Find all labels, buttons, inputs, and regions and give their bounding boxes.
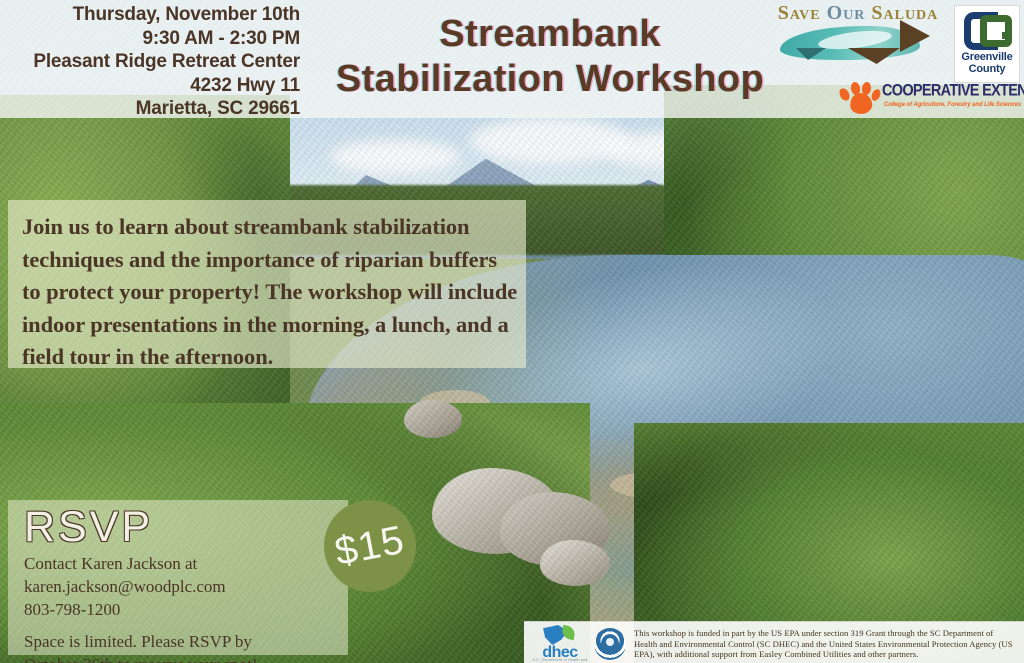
cooperative-extension-subtitle: College of Agriculture, Forestry and Lif… <box>884 102 1024 108</box>
header-band: Thursday, November 10th 9:30 AM - 2:30 P… <box>0 0 1024 118</box>
rsvp-contact-line: Contact Karen Jackson at <box>24 552 334 575</box>
price-amount: $15 <box>331 517 408 574</box>
cooperative-extension-title: COOPERATIVE EXTENSION <box>882 82 1024 100</box>
event-city-state-zip: Marietta, SC 29661 <box>0 97 300 121</box>
greenville-county-wordmark: Greenville County <box>955 51 1019 75</box>
leaf-icon <box>561 625 576 640</box>
rsvp-heading: RSVP <box>24 504 153 550</box>
event-time: 9:30 AM - 2:30 PM <box>0 27 300 51</box>
clemson-paw-icon <box>838 82 880 114</box>
rsvp-email[interactable]: karen.jackson@woodplc.com <box>24 575 334 598</box>
greenville-county-logo: Greenville County <box>954 5 1020 83</box>
page-title: Streambank Stabilization Workshop <box>330 12 770 102</box>
sos-word-save: Save <box>778 2 821 24</box>
save-our-saluda-logo: Save Our Saluda <box>760 2 950 64</box>
funding-text: This workshop is funded in part by the U… <box>634 628 1018 660</box>
rsvp-details: Contact Karen Jackson at karen.jackson@w… <box>24 552 334 663</box>
rsvp-limited-line: Space is limited. Please RSVP by <box>24 630 334 653</box>
sos-word-our: Our <box>827 2 866 24</box>
event-date: Thursday, November 10th <box>0 3 300 27</box>
event-details: Thursday, November 10th 9:30 AM - 2:30 P… <box>0 3 300 121</box>
title-line-2: Stabilization Workshop <box>330 57 770 102</box>
fish-tail-icon <box>900 20 930 52</box>
price-badge: $15 <box>324 500 416 592</box>
dhec-tagline: S.C. Department of Health and Environmen… <box>532 658 588 663</box>
cloud <box>330 140 460 174</box>
event-street: 4232 Hwy 11 <box>0 74 300 98</box>
rsvp-deadline-date: October 26th <box>24 655 113 663</box>
rsvp-deadline-suffix: to reserve your spot! <box>113 655 257 663</box>
dhec-logo: dhec S.C. Department of Health and Envir… <box>532 625 588 663</box>
greenville-county-monogram-icon <box>964 12 1012 50</box>
greenville-line: Greenville <box>955 51 1019 63</box>
monogram-g <box>980 15 1012 47</box>
funding-disclaimer-bar: dhec S.C. Department of Health and Envir… <box>524 621 1024 663</box>
spacer <box>24 621 334 630</box>
rsvp-phone[interactable]: 803-798-1200 <box>24 598 334 621</box>
workshop-flyer: Thursday, November 10th 9:30 AM - 2:30 P… <box>0 0 1024 663</box>
county-line: County <box>955 63 1019 75</box>
description-panel: Join us to learn about streambank stabil… <box>8 200 526 368</box>
epa-seal-icon <box>594 628 626 660</box>
cooperative-extension-logo: COOPERATIVE EXTENSION College of Agricul… <box>838 80 1024 116</box>
boulder <box>404 400 462 438</box>
epa-seal-inner <box>601 634 619 654</box>
title-line-1: Streambank <box>330 12 770 57</box>
rsvp-panel: RSVP Contact Karen Jackson at karen.jack… <box>8 500 348 655</box>
rsvp-deadline-line: October 26th to reserve your spot! <box>24 653 334 663</box>
boulder <box>540 540 610 586</box>
event-venue: Pleasant Ridge Retreat Center <box>0 50 300 74</box>
description-text: Join us to learn about streambank stabil… <box>22 211 518 374</box>
